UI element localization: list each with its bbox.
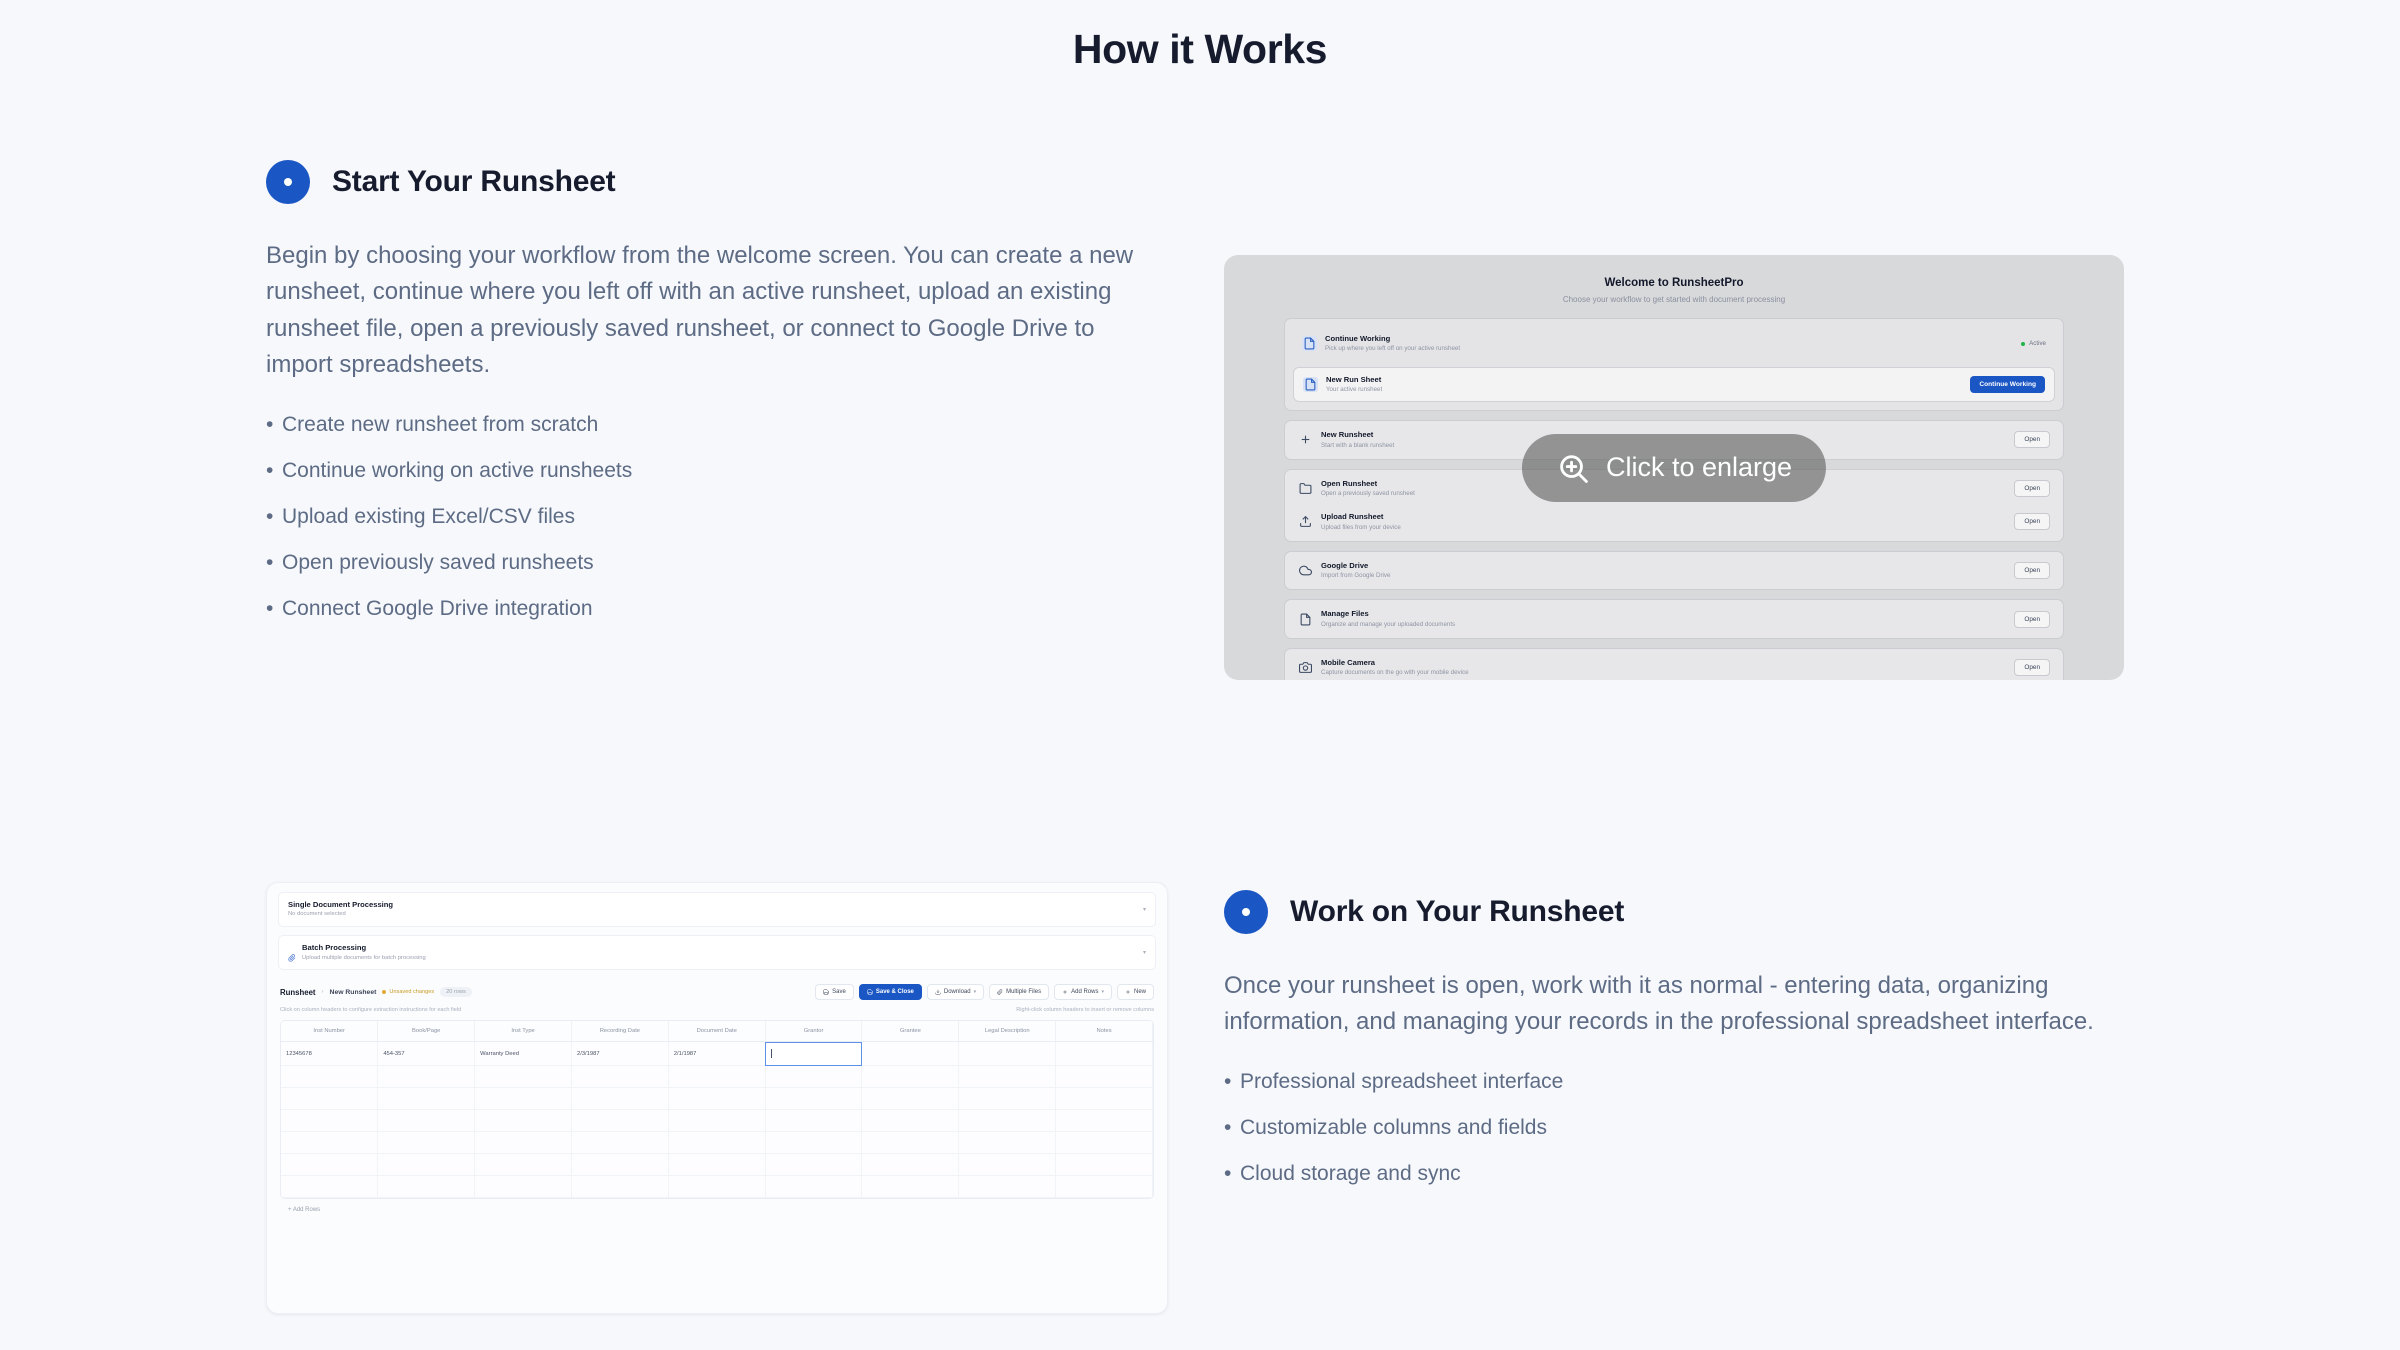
table-cell[interactable] [959, 1154, 1056, 1176]
open-button[interactable]: Open [2014, 659, 2050, 676]
save-icon [823, 989, 829, 995]
breadcrumb: Runsheet › New Runsheet Unsaved changes … [280, 987, 472, 997]
table-cell[interactable] [668, 1066, 765, 1088]
table-cell[interactable] [1056, 1132, 1153, 1154]
enlarge-label: Click to enlarge [1606, 452, 1792, 483]
table-cell[interactable] [475, 1088, 572, 1110]
table-row[interactable] [281, 1110, 1153, 1132]
table-cell[interactable] [281, 1154, 378, 1176]
step-2-text-block: Work on Your Runsheet Once your runsheet… [1224, 890, 2104, 1209]
option-row-manage-files[interactable]: Manage Files Organize and manage your up… [1289, 602, 2059, 636]
runsheet-toolbar-row: Runsheet › New Runsheet Unsaved changes … [278, 978, 1156, 1000]
table-cell[interactable] [378, 1176, 475, 1198]
step-2-heading-row: Work on Your Runsheet [1224, 890, 2104, 934]
open-button[interactable]: Open [2014, 611, 2050, 628]
table-cell[interactable]: 2/3/1987 [571, 1042, 668, 1066]
list-item: •Customizable columns and fields [1224, 1117, 2104, 1138]
page-title: How it Works [0, 0, 2400, 73]
table-cell[interactable] [1056, 1110, 1153, 1132]
active-runsheet-name: New Run Sheet [1326, 375, 1962, 384]
table-cell[interactable] [281, 1088, 378, 1110]
welcome-screen-preview[interactable]: Welcome to RunsheetPro Choose your workf… [1224, 255, 2124, 680]
table-cell[interactable] [668, 1132, 765, 1154]
table-cell[interactable] [475, 1176, 572, 1198]
table-cell[interactable] [959, 1066, 1056, 1088]
table-cell[interactable] [378, 1110, 475, 1132]
mobile-camera-card[interactable]: Mobile Camera Capture documents on the g… [1284, 648, 2064, 680]
bullet-label: Customizable columns and fields [1240, 1116, 1547, 1139]
column-header-inst-type[interactable]: Inst Type [475, 1021, 572, 1042]
download-button[interactable]: Download ▾ [927, 984, 984, 1000]
table-cell[interactable] [668, 1154, 765, 1176]
table-cell[interactable] [1056, 1042, 1153, 1066]
chevron-down-icon[interactable]: ▾ [1143, 906, 1146, 913]
batch-processing-panel[interactable]: Batch Processing Upload multiple documen… [278, 935, 1156, 970]
breadcrumb-root[interactable]: Runsheet [280, 988, 316, 997]
table-cell[interactable] [378, 1088, 475, 1110]
table-cell[interactable] [765, 1176, 862, 1198]
table-cell[interactable] [862, 1176, 959, 1198]
option-row-upload-runsheet[interactable]: Upload Runsheet Upload files from your d… [1289, 505, 2059, 539]
step-1-badge-icon [266, 160, 310, 204]
table-cell[interactable] [378, 1066, 475, 1088]
save-icon [867, 989, 873, 995]
runsheet-hints: Click on column headers to configure ext… [278, 1000, 1156, 1020]
table-cell[interactable] [959, 1042, 1056, 1066]
plus-icon [1125, 989, 1131, 995]
chevron-down-icon[interactable]: ▾ [1143, 949, 1146, 956]
runsheet-screen-preview[interactable]: Single Document Processing No document s… [266, 882, 1168, 1314]
google-drive-card[interactable]: Google Drive Import from Google Drive Op… [1284, 551, 2064, 591]
table-cell[interactable] [571, 1110, 668, 1132]
list-item: •Cloud storage and sync [1224, 1163, 2104, 1184]
table-cell[interactable] [1056, 1066, 1153, 1088]
table-cell[interactable] [765, 1110, 862, 1132]
magnifier-plus-icon [1556, 451, 1590, 485]
table-cell[interactable] [571, 1154, 668, 1176]
option-note: Upload files from your device [1321, 524, 2006, 532]
table-cell[interactable] [571, 1066, 668, 1088]
step-1-heading-row: Start Your Runsheet [266, 160, 1146, 204]
column-header-book-page[interactable]: Book/Page [378, 1021, 475, 1042]
open-button[interactable]: Open [2014, 513, 2050, 530]
table-cell[interactable] [862, 1088, 959, 1110]
table-cell[interactable] [1056, 1176, 1153, 1198]
table-cell-selected[interactable] [765, 1042, 862, 1066]
table-cell[interactable] [378, 1132, 475, 1154]
paperclip-icon [288, 949, 296, 957]
table-row[interactable] [281, 1088, 1153, 1110]
column-header-grantee[interactable]: Grantee [862, 1021, 959, 1042]
table-cell[interactable] [765, 1088, 862, 1110]
list-item: •Continue working on active runsheets [266, 460, 1146, 481]
download-icon [935, 989, 941, 995]
bullet-label: Cloud storage and sync [1240, 1162, 1461, 1185]
breadcrumb-separator: › [322, 989, 324, 995]
table-cell[interactable] [959, 1132, 1056, 1154]
table-cell[interactable] [571, 1132, 668, 1154]
option-note: Organize and manage your uploaded docume… [1321, 621, 2006, 629]
camera-icon [1298, 660, 1313, 675]
table-cell[interactable] [281, 1176, 378, 1198]
table-cell[interactable] [765, 1154, 862, 1176]
table-row[interactable] [281, 1066, 1153, 1088]
step-1-description: Begin by choosing your workflow from the… [266, 238, 1146, 384]
manage-files-card[interactable]: Manage Files Organize and manage your up… [1284, 599, 2064, 639]
active-runsheet-note: Your active runsheet [1326, 386, 1962, 394]
file-icon [1298, 612, 1313, 627]
continue-working-group: Continue Working Pick up where you left … [1284, 318, 2064, 411]
runsheet-preview-content: Single Document Processing No document s… [267, 883, 1167, 1223]
table-cell[interactable] [668, 1088, 765, 1110]
table-cell[interactable] [765, 1066, 862, 1088]
bullet-label: Professional spreadsheet interface [1240, 1070, 1563, 1093]
bullet-label: Create new runsheet from scratch [282, 413, 598, 436]
unsaved-label: Unsaved changes [389, 989, 434, 995]
step-1-text-block: Start Your Runsheet Begin by choosing yo… [266, 160, 1146, 644]
welcome-title: Welcome to RunsheetPro [1284, 277, 2064, 289]
bullet-label: Open previously saved runsheets [282, 551, 594, 574]
how-it-works-page: How it Works Start Your Runsheet Begin b… [0, 0, 2400, 1350]
column-header-notes[interactable]: Notes [1056, 1021, 1153, 1042]
single-document-processing-panel[interactable]: Single Document Processing No document s… [278, 892, 1156, 927]
bullet-label: Connect Google Drive integration [282, 597, 593, 620]
column-header-legal-description[interactable]: Legal Description [959, 1021, 1056, 1042]
panel-note: Upload multiple documents for batch proc… [302, 955, 1137, 963]
table-cell[interactable] [475, 1132, 572, 1154]
panel-note: No document selected [288, 911, 1137, 919]
panel-title: Single Document Processing [288, 900, 1137, 909]
continue-working-note: Pick up where you left off on your activ… [1325, 345, 2013, 353]
step-1-bullet-list: •Create new runsheet from scratch •Conti… [266, 414, 1146, 619]
unsaved-changes-badge: Unsaved changes [382, 989, 434, 995]
save-button[interactable]: Save [815, 984, 854, 1000]
table-row[interactable] [281, 1154, 1153, 1176]
table-cell[interactable]: Warranty Deed [475, 1042, 572, 1066]
table-row[interactable] [281, 1176, 1153, 1198]
table-cell[interactable] [862, 1110, 959, 1132]
table-row[interactable] [281, 1132, 1153, 1154]
bullet-label: Upload existing Excel/CSV files [282, 505, 575, 528]
button-label: Download [944, 989, 971, 995]
table-cell[interactable] [668, 1110, 765, 1132]
table-cell[interactable]: 12345678 [281, 1042, 378, 1066]
table-row[interactable]: 12345678 454-357 Warranty Deed 2/3/1987 … [281, 1042, 1153, 1066]
status-label: Active [2029, 340, 2046, 347]
table-cell[interactable] [668, 1176, 765, 1198]
plus-icon [1062, 989, 1068, 995]
save-and-close-button[interactable]: Save & Close [859, 984, 922, 1000]
option-row-mobile-camera[interactable]: Mobile Camera Capture documents on the g… [1289, 651, 2059, 680]
active-runsheet-row[interactable]: New Run Sheet Your active runsheet Conti… [1293, 367, 2055, 403]
continue-working-header: Continue Working Pick up where you left … [1293, 327, 2055, 361]
table-cell[interactable] [571, 1088, 668, 1110]
option-name: Manage Files [1321, 609, 2006, 618]
step-work-on-your-runsheet: Work on Your Runsheet Once your runsheet… [1224, 890, 2104, 1209]
table-header-row: Inst Number Book/Page Inst Type Recordin… [281, 1021, 1153, 1042]
continue-working-button[interactable]: Continue Working [1970, 376, 2045, 393]
row-count-badge: 20 rows [440, 987, 472, 997]
breadcrumb-current: New Runsheet [330, 989, 377, 996]
option-name: Mobile Camera [1321, 658, 2006, 667]
chevron-down-icon: ▾ [974, 989, 977, 995]
table-cell[interactable] [378, 1154, 475, 1176]
table-cell[interactable] [281, 1110, 378, 1132]
button-label: New [1134, 989, 1146, 995]
runsheet-table-wrapper[interactable]: Inst Number Book/Page Inst Type Recordin… [280, 1020, 1154, 1199]
step-2-title: Work on Your Runsheet [1290, 895, 1624, 929]
list-item: •Connect Google Drive integration [266, 598, 1146, 619]
button-label: Save & Close [876, 989, 914, 995]
folder-open-icon [1298, 481, 1313, 496]
column-header-recording-date[interactable]: Recording Date [571, 1021, 668, 1042]
add-rows-button[interactable]: Add Rows ▾ [1054, 984, 1112, 1000]
hint-right: Right-click column headers to insert or … [1016, 1007, 1154, 1013]
option-note: Capture documents on the go with your mo… [1321, 669, 2006, 677]
table-cell[interactable] [862, 1154, 959, 1176]
option-note: Import from Google Drive [1321, 572, 2006, 580]
table-cell[interactable] [1056, 1088, 1153, 1110]
multiple-files-button[interactable]: Multiple Files [989, 984, 1049, 1000]
cloud-icon [1298, 563, 1313, 578]
option-name: Upload Runsheet [1321, 512, 2006, 521]
document-icon [1303, 377, 1318, 392]
table-cell[interactable]: 454-357 [378, 1042, 475, 1066]
column-header-grantor[interactable]: Grantor [765, 1021, 862, 1042]
table-cell[interactable] [959, 1088, 1056, 1110]
step-start-your-runsheet: Start Your Runsheet Begin by choosing yo… [266, 160, 1146, 644]
table-cell[interactable] [1056, 1154, 1153, 1176]
table-cell[interactable] [475, 1066, 572, 1088]
list-item: •Upload existing Excel/CSV files [266, 506, 1146, 527]
upload-icon [1298, 514, 1313, 529]
hint-left: Click on column headers to configure ext… [280, 1007, 461, 1013]
list-item: •Professional spreadsheet interface [1224, 1071, 2104, 1092]
runsheet-table[interactable]: Inst Number Book/Page Inst Type Recordin… [281, 1021, 1153, 1198]
chevron-down-icon: ▾ [1101, 989, 1104, 995]
plus-icon [1298, 432, 1313, 447]
table-cell[interactable] [475, 1110, 572, 1132]
new-button[interactable]: New [1117, 984, 1154, 1000]
panel-title: Batch Processing [302, 943, 1137, 952]
table-cell[interactable] [571, 1176, 668, 1198]
table-cell[interactable] [862, 1132, 959, 1154]
open-button[interactable]: Open [2014, 480, 2050, 497]
button-label: Add Rows [1071, 989, 1098, 995]
option-row-google-drive[interactable]: Google Drive Import from Google Drive Op… [1289, 554, 2059, 588]
document-icon [1302, 336, 1317, 351]
step-2-description: Once your runsheet is open, work with it… [1224, 968, 2104, 1041]
table-cell[interactable] [862, 1066, 959, 1088]
table-cell[interactable] [281, 1132, 378, 1154]
open-button[interactable]: Open [2014, 431, 2050, 448]
link-icon [997, 989, 1003, 995]
button-label: Save [832, 989, 846, 995]
list-item: •Open previously saved runsheets [266, 552, 1146, 573]
list-item: •Create new runsheet from scratch [266, 414, 1146, 435]
table-cell[interactable] [281, 1066, 378, 1088]
table-cell[interactable] [959, 1110, 1056, 1132]
table-cell[interactable] [862, 1042, 959, 1066]
step-2-badge-icon [1224, 890, 1268, 934]
table-cell[interactable]: 2/1/1987 [668, 1042, 765, 1066]
welcome-subtitle: Choose your workflow to get started with… [1284, 295, 2064, 304]
open-button[interactable]: Open [2014, 562, 2050, 579]
option-name: Google Drive [1321, 561, 2006, 570]
table-cell[interactable] [765, 1132, 862, 1154]
column-header-inst-number[interactable]: Inst Number [281, 1021, 378, 1042]
step-2-bullet-list: •Professional spreadsheet interface •Cus… [1224, 1071, 2104, 1184]
click-to-enlarge-overlay[interactable]: Click to enlarge [1522, 434, 1826, 502]
bullet-label: Continue working on active runsheets [282, 459, 632, 482]
status-badge: Active [2021, 340, 2046, 347]
table-cell[interactable] [959, 1176, 1056, 1198]
column-header-document-date[interactable]: Document Date [668, 1021, 765, 1042]
add-rows-footer-button[interactable]: + Add Rows [278, 1199, 1156, 1223]
runsheet-action-buttons: Save Save & Close Download ▾ Multiple Fi… [815, 984, 1154, 1000]
button-label: Multiple Files [1006, 989, 1041, 995]
continue-working-title: Continue Working [1325, 334, 2013, 343]
table-cell[interactable] [475, 1154, 572, 1176]
step-1-title: Start Your Runsheet [332, 165, 615, 199]
